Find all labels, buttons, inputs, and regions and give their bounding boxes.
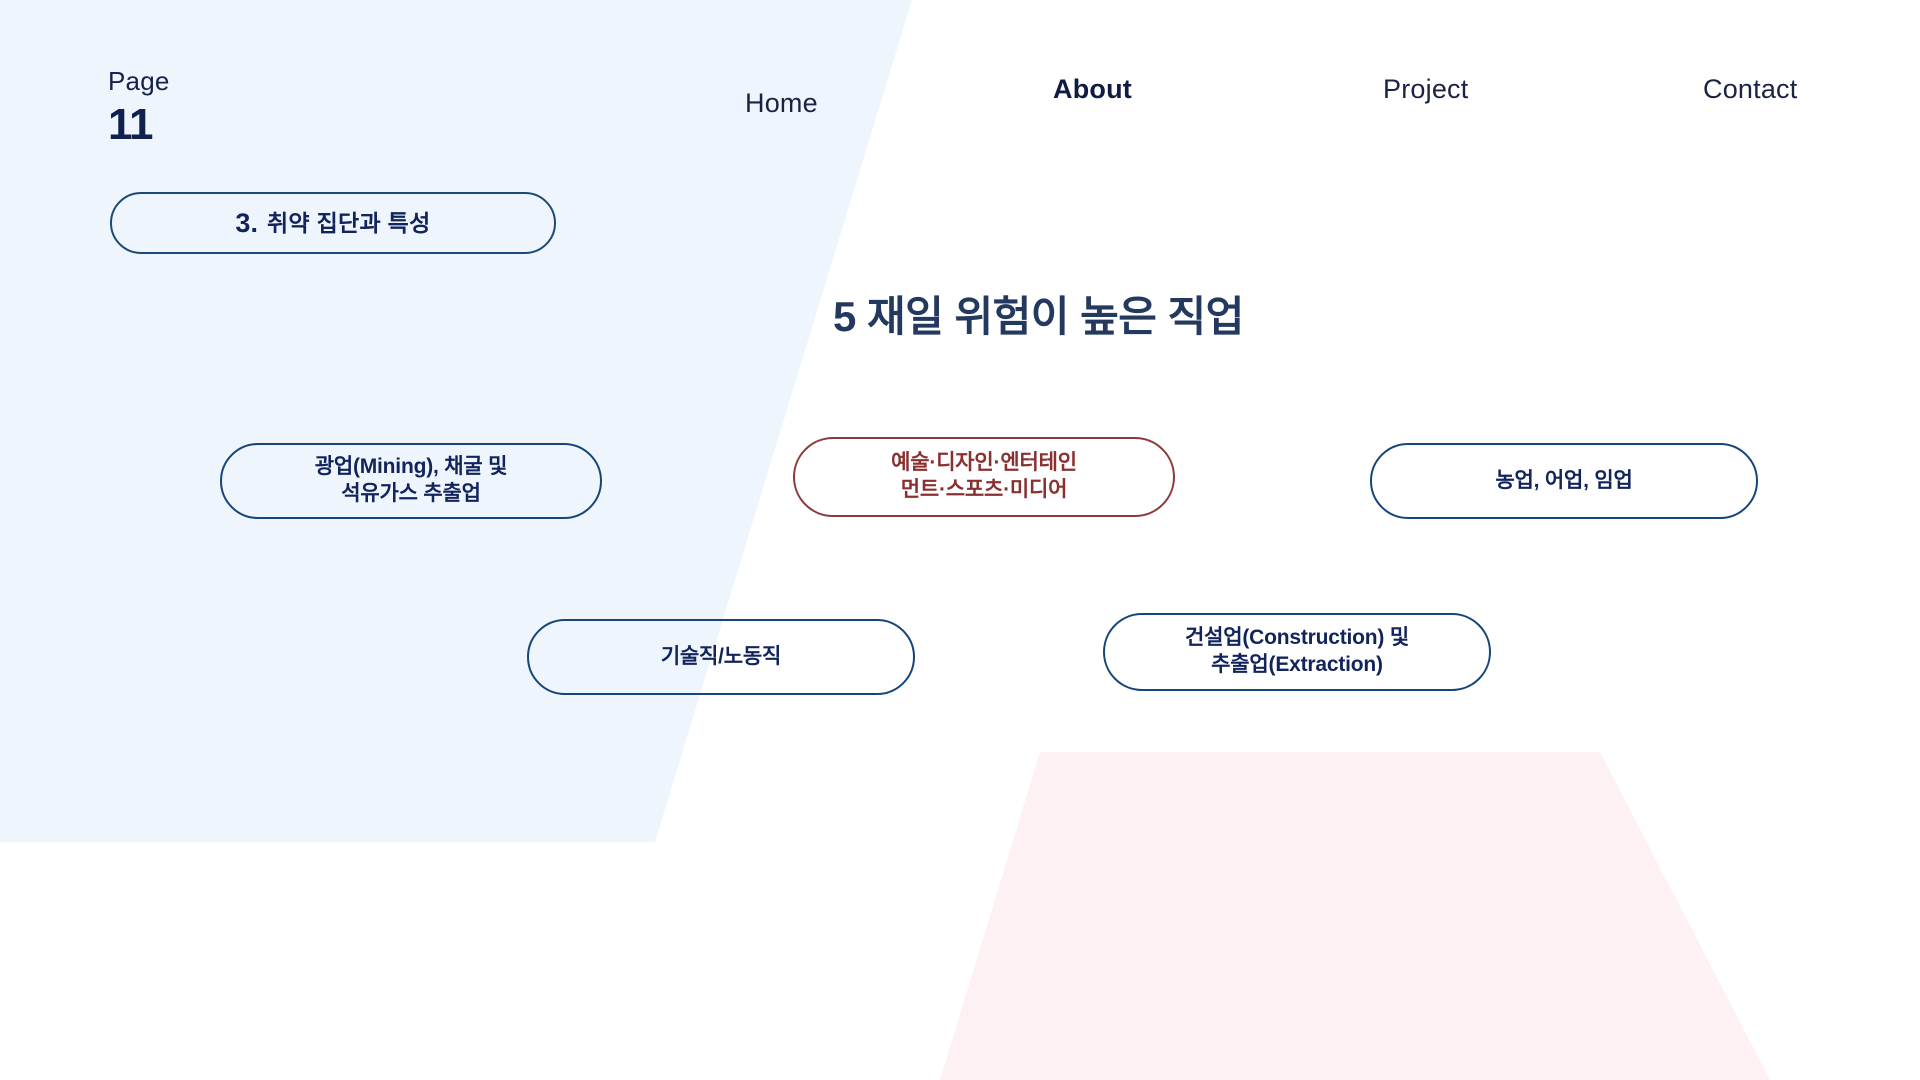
- pill-label: 광업(Mining), 채굴 및 석유가스 추출업: [315, 454, 508, 508]
- section-badge[interactable]: 3. 취약 집단과 특성: [110, 192, 556, 254]
- pill-label: 기술직/노동직: [661, 644, 781, 671]
- section-badge-label: 취약 집단과 특성: [267, 212, 431, 235]
- content-heading: 5 재일 위험이 높은 직업: [833, 283, 1244, 344]
- pill-technical-labor[interactable]: 기술직/노동직: [527, 619, 915, 695]
- pill-mining[interactable]: 광업(Mining), 채굴 및 석유가스 추출업: [220, 443, 602, 519]
- section-badge-number: 3.: [235, 210, 258, 237]
- nav-item-about[interactable]: About: [1053, 74, 1132, 105]
- pink-trapezoid-shape: [940, 752, 1770, 1080]
- nav-item-project[interactable]: Project: [1383, 74, 1468, 105]
- pill-label: 농업, 어업, 임업: [1495, 468, 1632, 495]
- pill-label: 예술·디자인·엔터테인 먼트·스포츠·미디어: [891, 450, 1077, 504]
- pill-label: 건설업(Construction) 및 추출업(Extraction): [1185, 625, 1409, 679]
- nav-item-contact[interactable]: Contact: [1703, 74, 1797, 105]
- nav-item-home[interactable]: Home: [745, 88, 818, 119]
- pill-agriculture-fishery-forestry[interactable]: 농업, 어업, 임업: [1370, 443, 1758, 519]
- main-navigation: Home About Project Contact: [0, 0, 1920, 140]
- background-shapes: [0, 0, 1920, 1080]
- pill-arts-design-entertainment[interactable]: 예술·디자인·엔터테인 먼트·스포츠·미디어: [793, 437, 1175, 517]
- pill-construction-extraction[interactable]: 건설업(Construction) 및 추출업(Extraction): [1103, 613, 1491, 691]
